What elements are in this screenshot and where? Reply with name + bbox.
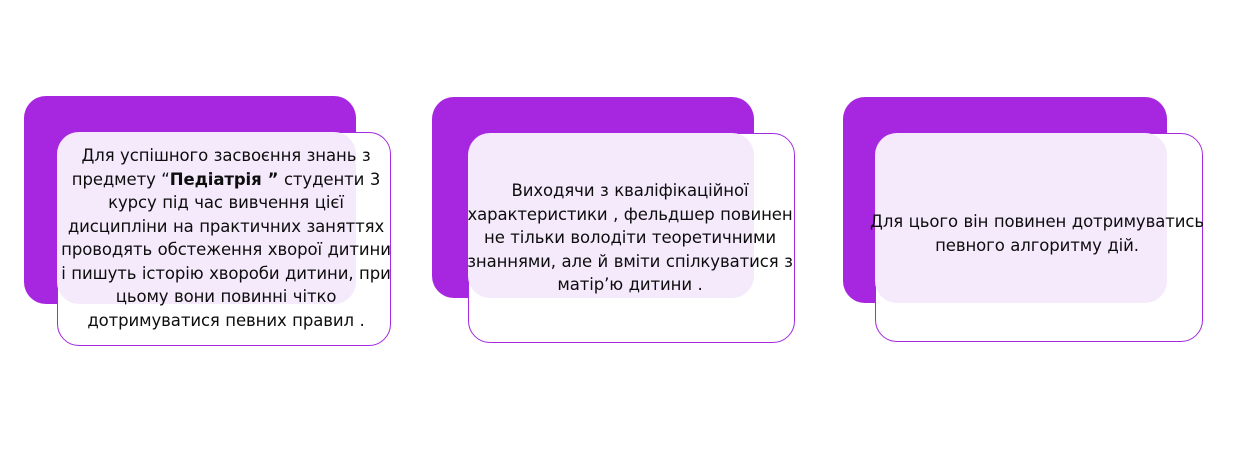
content-card-2[interactable]: Виходячи з кваліфікаційної характеристик… — [420, 0, 820, 360]
card-3-text: Для цього він повинен дотримуватись певн… — [870, 210, 1204, 257]
card-1-text: Для успішного засвоєння знань з предмету… — [60, 144, 392, 332]
content-card-1[interactable]: Для успішного засвоєння знань з предмету… — [0, 0, 420, 360]
content-card-3[interactable]: Для цього він повинен дотримуватись певн… — [820, 0, 1237, 360]
slide-canvas: Для успішного засвоєння знань з предмету… — [0, 0, 1237, 452]
card-1-subject-emphasis: Педіатрія ” — [170, 170, 279, 189]
card-2-text: Виходячи з кваліфікаційної характеристик… — [465, 179, 795, 297]
